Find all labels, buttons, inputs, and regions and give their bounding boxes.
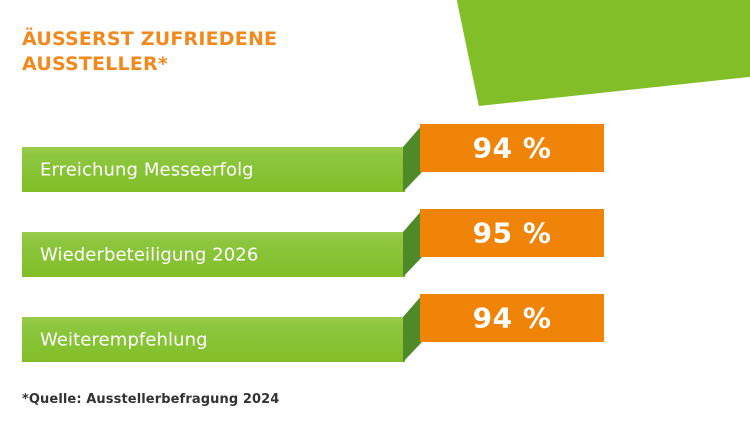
infographic-canvas: AUSSTELLER ÄUSSERST ZUFRIEDENE AUSSTELLE… xyxy=(0,0,750,422)
category-label: Erreichung Messeerfolg xyxy=(40,159,254,180)
value-box: 94 % xyxy=(420,294,604,342)
bar-row: Wiederbeteiligung 2026 95 % xyxy=(0,203,750,289)
bar-row: Weiterempfehlung 94 % xyxy=(0,288,750,374)
page-title: ÄUSSERST ZUFRIEDENE AUSSTELLER* xyxy=(22,27,352,76)
value-label: 94 % xyxy=(420,132,604,165)
value-box: 95 % xyxy=(420,209,604,257)
value-label: 94 % xyxy=(420,302,604,335)
category-bar: Wiederbeteiligung 2026 xyxy=(22,232,405,277)
value-label: 95 % xyxy=(420,217,604,250)
category-label: Wiederbeteiligung 2026 xyxy=(40,244,258,265)
category-bar: Erreichung Messeerfolg xyxy=(22,147,405,192)
bar-row: Erreichung Messeerfolg 94 % xyxy=(0,118,750,204)
category-label: Weiterempfehlung xyxy=(40,329,208,350)
value-box: 94 % xyxy=(420,124,604,172)
source-footnote: *Quelle: Ausstellerbefragung 2024 xyxy=(22,392,279,407)
category-bar: Weiterempfehlung xyxy=(22,317,405,362)
